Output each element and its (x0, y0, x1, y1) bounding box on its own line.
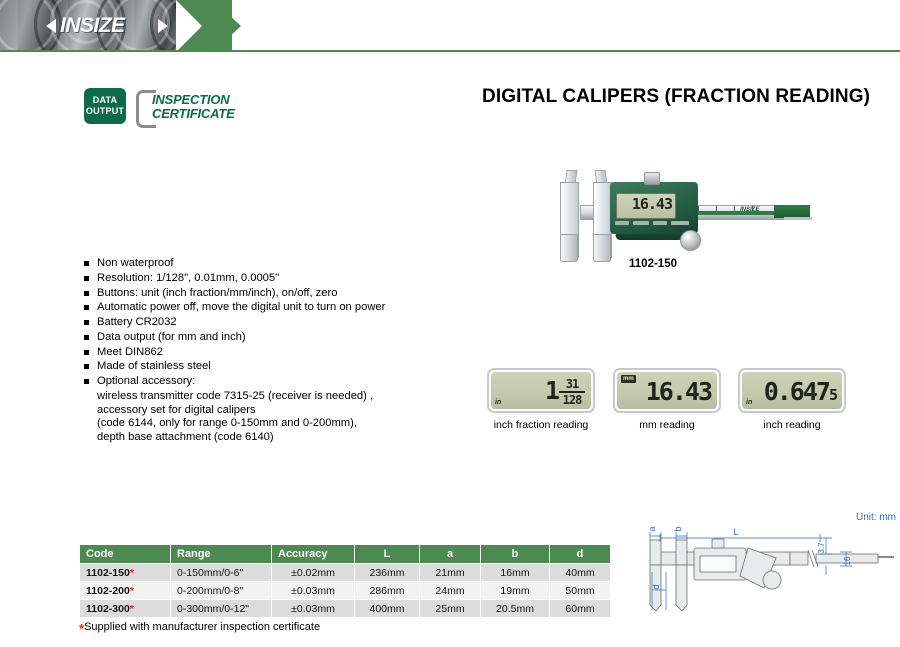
bullet-icon (84, 305, 89, 310)
cell-code: 1102-300* (80, 600, 171, 618)
readout-screen: in 1 31 128 (491, 372, 591, 409)
logo-right-arrow-icon (158, 19, 168, 33)
feature-text: Data output (for mm and inch) (97, 331, 246, 343)
table-row[interactable]: 1102-200* 0-200mm/0-8" ±0.03mm 286mm 24m… (80, 582, 611, 600)
dim-label-b: b (673, 526, 683, 531)
header-divider (0, 50, 900, 52)
certificate-line2: CERTIFICATE (152, 106, 235, 121)
cell-range: 0-150mm/0-6" (171, 564, 272, 582)
cell-b: 16mm (481, 564, 550, 582)
column-header-range: Range (171, 545, 272, 564)
column-header-accuracy: Accuracy (272, 545, 355, 564)
readout-unit-label: in (746, 399, 752, 406)
caliper-depth-rod (784, 217, 812, 220)
caliper-brand-mark: INSIZE (740, 207, 759, 213)
feature-list: Non waterproof Resolution: 1/128", 0.01m… (84, 257, 454, 444)
accessory-line: accessory set for digital calipers (84, 404, 454, 418)
readout-value: 1 31 128 (545, 373, 585, 409)
accessory-text: depth base attachment (code 6140) (97, 431, 274, 443)
accessory-text: wireless transmitter code 7315-25 (recei… (97, 390, 373, 402)
bullet-icon (84, 379, 89, 384)
list-item: Made of stainless steel (84, 360, 454, 374)
cell-b: 20.5mm (481, 600, 550, 618)
cell-range: 0-200mm/0-8" (171, 582, 272, 600)
readout-numerator: 31 (566, 377, 578, 391)
page-title: DIGITAL CALIPERS (FRACTION READING) (482, 86, 870, 108)
bullet-icon (84, 350, 89, 355)
accessory-line: (code 6144, only for range 0-150mm and 0… (84, 417, 454, 431)
caliper-lock-screw (644, 172, 660, 185)
cell-b: 19mm (481, 582, 550, 600)
bullet-icon (84, 276, 89, 281)
table-header-row: Code Range Accuracy L a b d (80, 545, 611, 564)
certificate-line1: INSPECTION (152, 92, 229, 107)
dimension-drawing: Unit: mm (620, 512, 900, 632)
bullet-icon (84, 291, 89, 296)
table-row[interactable]: 1102-150* 0-150mm/0-6" ±0.02mm 236mm 21m… (80, 564, 611, 582)
readout-unit-label: in (495, 399, 501, 406)
table-footnote: *Supplied with manufacturer inspection c… (79, 621, 320, 636)
caliper-button-row (615, 221, 689, 226)
readout-inch: in 0.6475 inch reading (738, 368, 846, 431)
certificate-asterisk: * (130, 603, 134, 615)
logo-left-arrow-icon (46, 19, 56, 33)
caliper-display: 16.43 (616, 193, 676, 219)
caliper-display-value: 16.43 (632, 195, 672, 213)
data-output-badge: DATA OUTPUT (84, 88, 126, 124)
cell-d: 40mm (550, 564, 611, 582)
readout-subscript-digit: 5 (829, 386, 836, 404)
feature-text: Made of stainless steel (97, 360, 211, 372)
accessory-line: depth base attachment (code 6140) (84, 431, 454, 445)
column-header-a: a (420, 545, 481, 564)
product-photo: 16.43 INSIZE (498, 160, 808, 260)
code-value: 1102-200 (86, 585, 130, 597)
list-item: Data output (for mm and inch) (84, 331, 454, 345)
certificate-asterisk: * (130, 585, 134, 597)
readout-value: 0.6475 (764, 374, 836, 409)
feature-text: Buttons: unit (inch fraction/mm/inch), o… (97, 287, 337, 299)
readout-screen: mm 16.43 (617, 372, 717, 409)
caliper-thumb-wheel (680, 230, 701, 251)
column-header-l: L (355, 545, 420, 564)
logo-text: INSIZE (60, 14, 125, 38)
readout-caption: inch reading (738, 419, 846, 431)
feature-text: Automatic power off, move the digital un… (97, 301, 385, 313)
cell-code: 1102-200* (80, 582, 171, 600)
list-item: Resolution: 1/128", 0.01mm, 0.0005" (84, 272, 454, 286)
feature-text: Non waterproof (97, 257, 174, 269)
feature-text: Optional accessory: (97, 375, 195, 387)
cell-a: 21mm (420, 564, 481, 582)
list-item: Automatic power off, move the digital un… (84, 301, 454, 315)
readout-caption: mm reading (613, 419, 721, 431)
feature-text: Battery CR2032 (97, 316, 177, 328)
cell-accuracy: ±0.03mm (272, 582, 355, 600)
bullet-icon (84, 335, 89, 340)
list-item: Optional accessory: (84, 375, 454, 389)
readout-whole-number: 1 (545, 373, 558, 409)
cell-code: 1102-150* (80, 564, 171, 582)
cell-l: 286mm (355, 582, 420, 600)
readout-bezel: in 0.6475 (738, 368, 846, 413)
cell-accuracy: ±0.03mm (272, 600, 355, 618)
readout-mm: mm 16.43 mm reading (613, 368, 721, 431)
cell-l: 236mm (355, 564, 420, 582)
cell-range: 0-300mm/0-12" (171, 600, 272, 618)
readout-value: 16.43 (646, 374, 711, 409)
cell-accuracy: ±0.02mm (272, 564, 355, 582)
header-green-notch (176, 0, 202, 52)
certificate-asterisk: * (130, 567, 134, 579)
product-photo-caption: 1102-150 (498, 258, 808, 270)
drawing-unit-label: Unit: mm (856, 512, 896, 523)
readout-inch-fraction: in 1 31 128 inch fraction reading (487, 368, 595, 431)
cell-l: 400mm (355, 600, 420, 618)
drawing-svg: L a b d 3.7 16 (620, 512, 900, 632)
specification-table: Code Range Accuracy L a b d 1102-150* 0-… (79, 544, 611, 618)
readout-bezel: in 1 31 128 (487, 368, 595, 413)
inspection-certificate-badge: INSPECTION CERTIFICATE (136, 90, 256, 124)
readout-screen: in 0.6475 (742, 372, 842, 409)
accessory-text: (code 6144, only for range 0-150mm and 0… (97, 417, 357, 429)
column-header-code: Code (80, 545, 171, 564)
readout-bezel: mm 16.43 (613, 368, 721, 413)
accessory-line: wireless transmitter code 7315-25 (recei… (84, 390, 454, 404)
cell-d: 60mm (550, 600, 611, 618)
dim-label-L: L (733, 527, 738, 537)
bullet-icon (84, 320, 89, 325)
insize-logo: INSIZE (46, 14, 172, 40)
page-header: INSIZE (0, 0, 900, 58)
data-output-line1: DATA (93, 95, 117, 106)
list-item: Battery CR2032 (84, 316, 454, 330)
column-header-d: d (550, 545, 611, 564)
accessory-text: accessory set for digital calipers (97, 404, 256, 416)
footnote-text: Supplied with manufacturer inspection ce… (84, 621, 320, 633)
cell-a: 24mm (420, 582, 481, 600)
dim-label-3-7: 3.7 (817, 542, 826, 554)
cell-d: 50mm (550, 582, 611, 600)
dim-label-a: a (647, 526, 657, 531)
feature-text: Resolution: 1/128", 0.01mm, 0.0005" (97, 272, 279, 284)
feature-text: Meet DIN862 (97, 346, 163, 358)
list-item: Meet DIN862 (84, 346, 454, 360)
bullet-icon (84, 364, 89, 369)
code-value: 1102-300 (86, 603, 130, 615)
header-green-arrow (213, 0, 241, 52)
data-output-line2: OUTPUT (86, 106, 124, 117)
list-item: Buttons: unit (inch fraction/mm/inch), o… (84, 287, 454, 301)
readout-unit-label: mm (621, 375, 636, 383)
dim-label-d: d (651, 584, 661, 589)
column-header-b: b (481, 545, 550, 564)
code-value: 1102-150 (86, 567, 130, 579)
bullet-icon (84, 261, 89, 266)
dim-label-16: 16 (843, 556, 852, 565)
readout-denominator: 128 (563, 393, 582, 407)
list-item: Non waterproof (84, 257, 454, 271)
readout-fraction: 31 128 (559, 375, 585, 407)
readout-main-digits: 0.647 (764, 377, 829, 406)
cell-a: 25mm (420, 600, 481, 618)
table-row[interactable]: 1102-300* 0-300mm/0-12" ±0.03mm 400mm 25… (80, 600, 611, 618)
readout-caption: inch fraction reading (487, 419, 595, 431)
